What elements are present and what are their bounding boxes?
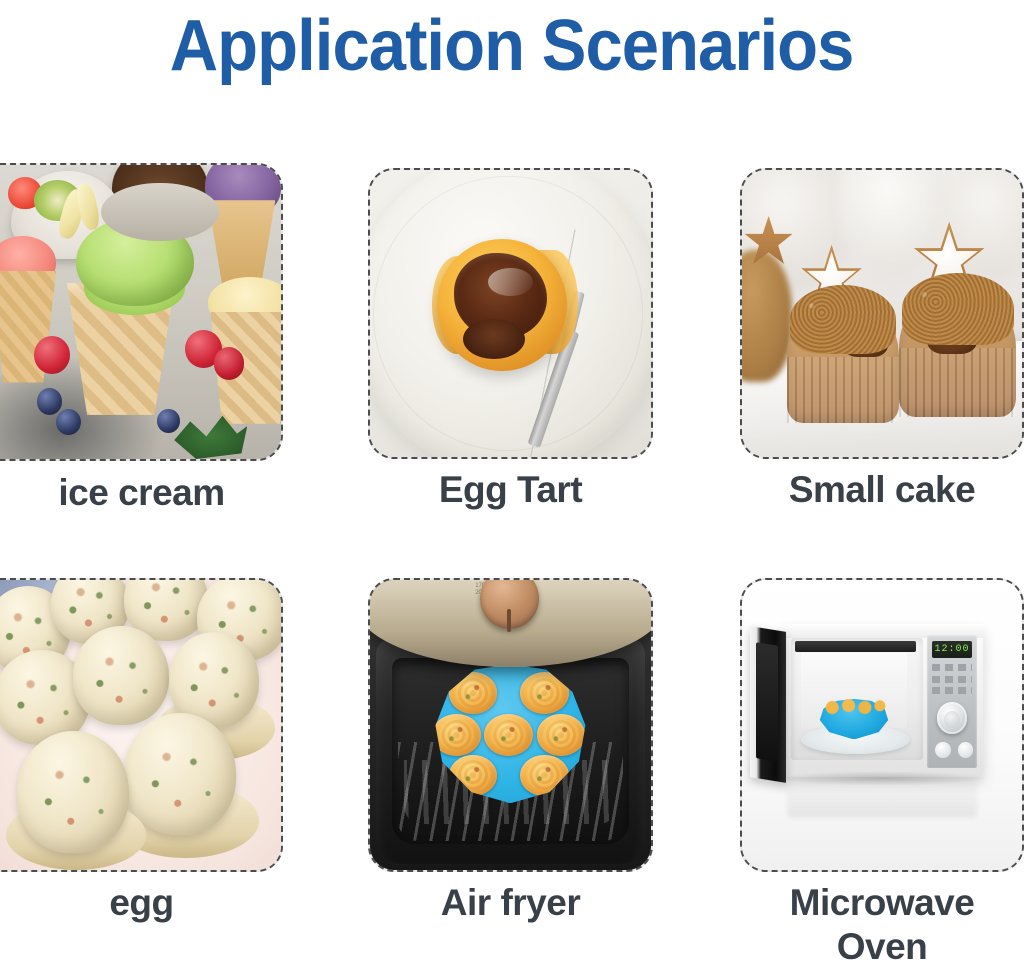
scenario-photo-frame-ice-cream bbox=[0, 163, 283, 461]
scenario-photo-frame-egg bbox=[0, 578, 283, 872]
egg-bite-6 bbox=[73, 626, 169, 725]
scenario-label-egg: egg bbox=[0, 881, 283, 925]
photo-microwave-oven: 12:00 bbox=[742, 580, 1022, 870]
scenario-label-microwave-line1: Microwave bbox=[740, 881, 1024, 925]
chocolate-bowl-rim bbox=[101, 183, 219, 242]
tart-highlight bbox=[488, 268, 533, 297]
scenario-photo-frame-small-cake bbox=[740, 168, 1024, 459]
scenario-photo-frame-egg-tart bbox=[368, 168, 653, 459]
scenario-photo-frame-microwave-oven: 12:00 bbox=[740, 578, 1024, 872]
scenario-card-ice-cream[interactable]: ice cream bbox=[0, 163, 283, 461]
scenario-label-egg-tart: Egg Tart bbox=[368, 468, 653, 512]
photo-ice-cream bbox=[0, 165, 281, 459]
raspberry-1 bbox=[34, 336, 71, 374]
raspberry-3 bbox=[214, 347, 245, 379]
tart-caramelized-lower bbox=[463, 319, 525, 359]
muffin-ridges-right bbox=[899, 348, 1017, 417]
scenario-card-small-cake[interactable]: Small cake bbox=[740, 168, 1024, 459]
page-title-bar: Application Scenarios bbox=[0, 0, 1024, 92]
microwave-button-row-3[interactable] bbox=[932, 687, 971, 694]
egg-bite-8 bbox=[17, 731, 129, 853]
scenario-card-egg-tart[interactable]: Egg Tart bbox=[368, 168, 653, 459]
scenario-grid: ice cream bbox=[0, 92, 1024, 966]
blueberry-2 bbox=[56, 409, 81, 435]
scenario-card-microwave-oven[interactable]: 12:00 Microwave Oven bbox=[740, 578, 1024, 872]
photo-egg bbox=[0, 580, 281, 870]
photo-air-fryer: 170 200 70 100 bbox=[370, 580, 651, 870]
crumb-topping-right bbox=[902, 273, 1014, 345]
microwave-cavity-top-bar bbox=[795, 641, 915, 653]
muffin-ridges-left bbox=[787, 357, 899, 423]
photo-small-cake bbox=[742, 170, 1022, 457]
page-title: Application Scenarios bbox=[170, 5, 854, 87]
application-scenarios-page: Application Scenarios bbox=[0, 0, 1024, 966]
microwave-reflection bbox=[787, 777, 977, 818]
microwave-button-row-1[interactable] bbox=[932, 664, 971, 671]
crumb-topping-left bbox=[790, 285, 896, 354]
microwave-mold-food bbox=[820, 699, 887, 716]
microwave-clock-readout: 12:00 bbox=[932, 641, 971, 658]
mold-cavity-5 bbox=[537, 714, 586, 756]
microwave-button-row-2[interactable] bbox=[932, 676, 971, 683]
scenario-label-small-cake: Small cake bbox=[740, 468, 1024, 512]
scenario-label-air-fryer: Air fryer bbox=[368, 881, 653, 925]
photo-egg-tart bbox=[370, 170, 651, 457]
mold-cavity-4 bbox=[484, 714, 533, 756]
egg-bite-9 bbox=[124, 713, 236, 835]
microwave-dial-center bbox=[944, 711, 961, 728]
scenario-card-air-fryer[interactable]: 170 200 70 100 Air fryer bbox=[368, 578, 653, 872]
scenario-photo-frame-air-fryer: 170 200 70 100 bbox=[368, 578, 653, 872]
scenario-card-egg[interactable]: egg bbox=[0, 578, 283, 872]
scenario-label-ice-cream: ice cream bbox=[0, 471, 283, 515]
scenario-label-microwave-line2: Oven bbox=[740, 925, 1024, 966]
blueberry-3 bbox=[157, 409, 179, 433]
microwave-door-glass bbox=[756, 642, 778, 762]
knob-indicator-mark bbox=[507, 609, 511, 632]
microwave-round-button-1[interactable] bbox=[935, 742, 950, 758]
blueberry-1 bbox=[37, 388, 62, 414]
